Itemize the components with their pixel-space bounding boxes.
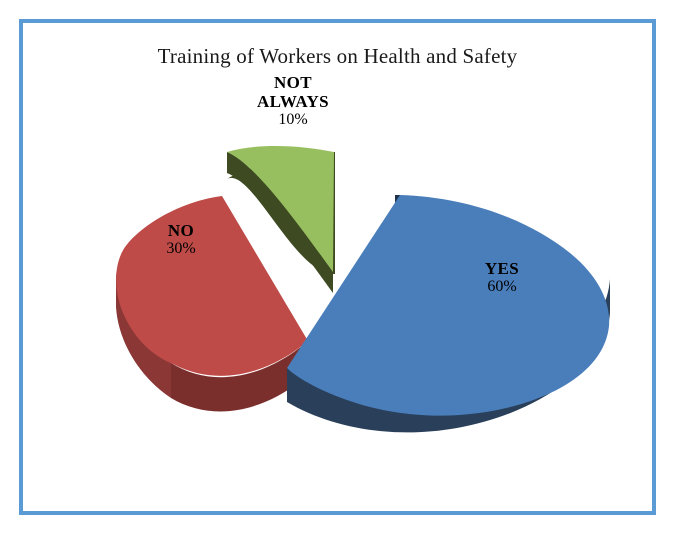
- pie-label-not-always-name-line2: ALWAYS: [223, 92, 363, 111]
- chart-plot-area: Training of Workers on Health and Safety: [23, 23, 652, 511]
- pie-slice-yes[interactable]: [287, 195, 610, 432]
- pie-label-yes-value: 60%: [442, 278, 562, 296]
- pie-label-yes: YES 60%: [442, 259, 562, 296]
- pie-label-not-always-value: 10%: [223, 111, 363, 129]
- pie-label-no: NO 30%: [126, 221, 236, 258]
- pie-label-yes-name: YES: [442, 259, 562, 278]
- pie-label-no-name: NO: [126, 221, 236, 240]
- pie-label-not-always: NOT ALWAYS 10%: [223, 73, 363, 129]
- pie-label-no-value: 30%: [126, 240, 236, 258]
- chart-frame: Training of Workers on Health and Safety: [19, 19, 656, 515]
- pie-slice-yes-top: [287, 195, 609, 416]
- pie-label-not-always-name-line1: NOT: [223, 73, 363, 92]
